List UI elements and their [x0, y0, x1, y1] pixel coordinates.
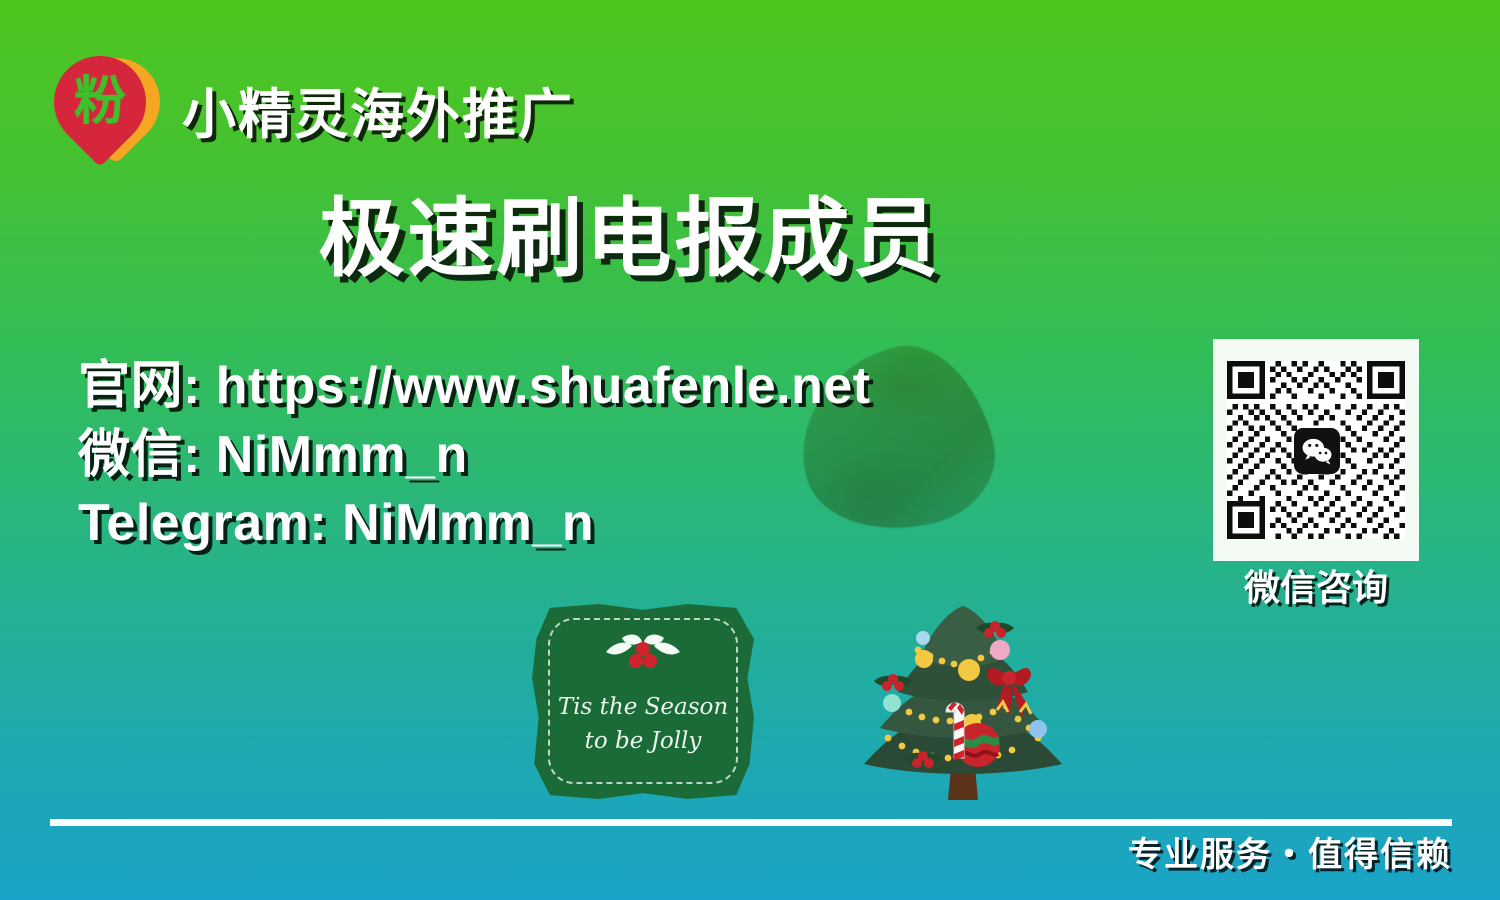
christmas-tree-icon — [848, 588, 1078, 803]
brand-name: 小精灵海外推广 — [182, 88, 574, 142]
holly-icon — [600, 630, 686, 678]
website-line[interactable]: 官网: https://www.shuafenle.net — [78, 352, 871, 421]
footer-divider — [50, 819, 1452, 826]
footer-tagline: 专业服务・值得信赖 — [1128, 838, 1452, 872]
jolly-line-1: Tis the Season — [540, 690, 746, 724]
qr-caption: 微信咨询 — [1213, 570, 1419, 606]
jolly-line-2: to be Jolly — [540, 724, 746, 758]
promo-banner: 粉 小精灵海外推广 极速刷电报成员 官网: https://www.shuafe… — [0, 0, 1500, 900]
brand-row: 粉 小精灵海外推广 — [50, 52, 574, 177]
contact-block: 官网: https://www.shuafenle.net 微信: NiMmm_… — [78, 352, 871, 558]
telegram-line[interactable]: Telegram: NiMmm_n — [78, 489, 871, 558]
wechat-line[interactable]: 微信: NiMmm_n — [78, 421, 871, 490]
page-title: 极速刷电报成员 — [0, 196, 1500, 282]
jolly-plaque-text: Tis the Season to be Jolly — [540, 690, 746, 758]
wechat-icon — [1294, 428, 1340, 474]
location-pin-logo-icon: 粉 — [50, 52, 160, 177]
logo-glyph: 粉 — [54, 56, 146, 148]
